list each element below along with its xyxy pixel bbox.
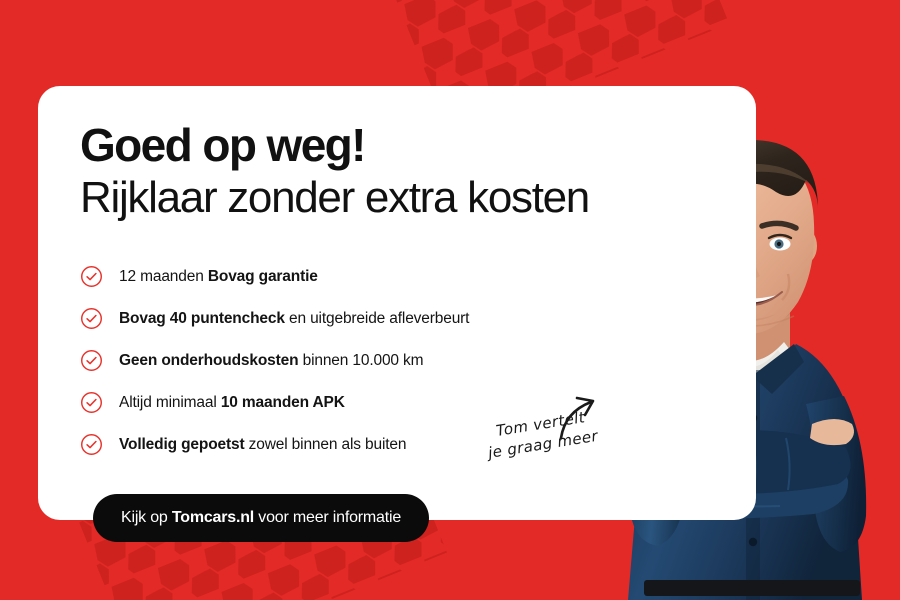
list-item-lead: Altijd minimaal <box>119 394 221 411</box>
list-item-label: 12 maanden Bovag garantie <box>119 268 318 286</box>
page-title: Goed op weg! <box>80 122 589 170</box>
list-item-trail: zowel binnen als buiten <box>244 436 406 453</box>
list-item: 12 maanden Bovag garantie <box>80 256 640 297</box>
cta-trail: voor meer informatie <box>254 509 401 526</box>
check-circle-icon <box>80 391 103 414</box>
page-subtitle: Rijklaar zonder extra kosten <box>80 174 589 222</box>
list-item: Volledig gepoetst zowel binnen als buite… <box>80 424 640 465</box>
list-item: Altijd minimaal 10 maanden APK <box>80 382 640 423</box>
cta-brand: Tomcars.nl <box>172 509 254 526</box>
list-item: Geen onderhoudskosten binnen 10.000 km <box>80 340 640 381</box>
check-circle-icon <box>80 265 103 288</box>
list-item-bold: Bovag garantie <box>208 268 318 285</box>
content-card: Goed op weg! Rijklaar zonder extra koste… <box>38 86 756 520</box>
headline-block: Goed op weg! Rijklaar zonder extra koste… <box>80 122 589 221</box>
list-item-bold: Geen onderhoudskosten <box>119 352 298 369</box>
feature-list: 12 maanden Bovag garantie Bovag 40 punte… <box>80 256 640 466</box>
cta-button-label: Kijk op Tomcars.nl voor meer informatie <box>121 509 401 527</box>
list-item-bold: 10 maanden APK <box>221 394 345 411</box>
promo-banner: Goed op weg! Rijklaar zonder extra koste… <box>0 0 900 600</box>
check-circle-icon <box>80 433 103 456</box>
list-item-label: Altijd minimaal 10 maanden APK <box>119 394 345 412</box>
list-item-bold: Bovag 40 puntencheck <box>119 310 285 327</box>
list-item-label: Geen onderhoudskosten binnen 10.000 km <box>119 352 423 370</box>
check-circle-icon <box>80 349 103 372</box>
list-item-label: Volledig gepoetst zowel binnen als buite… <box>119 436 406 454</box>
cta-button[interactable]: Kijk op Tomcars.nl voor meer informatie <box>93 494 429 542</box>
list-item-label: Bovag 40 puntencheck en uitgebreide afle… <box>119 310 469 328</box>
list-item-trail: binnen 10.000 km <box>298 352 423 369</box>
list-item-trail: en uitgebreide afleverbeurt <box>285 310 470 327</box>
list-item: Bovag 40 puntencheck en uitgebreide afle… <box>80 298 640 339</box>
check-circle-icon <box>80 307 103 330</box>
list-item-lead: 12 maanden <box>119 268 208 285</box>
list-item-bold: Volledig gepoetst <box>119 436 244 453</box>
cta-lead: Kijk op <box>121 509 172 526</box>
